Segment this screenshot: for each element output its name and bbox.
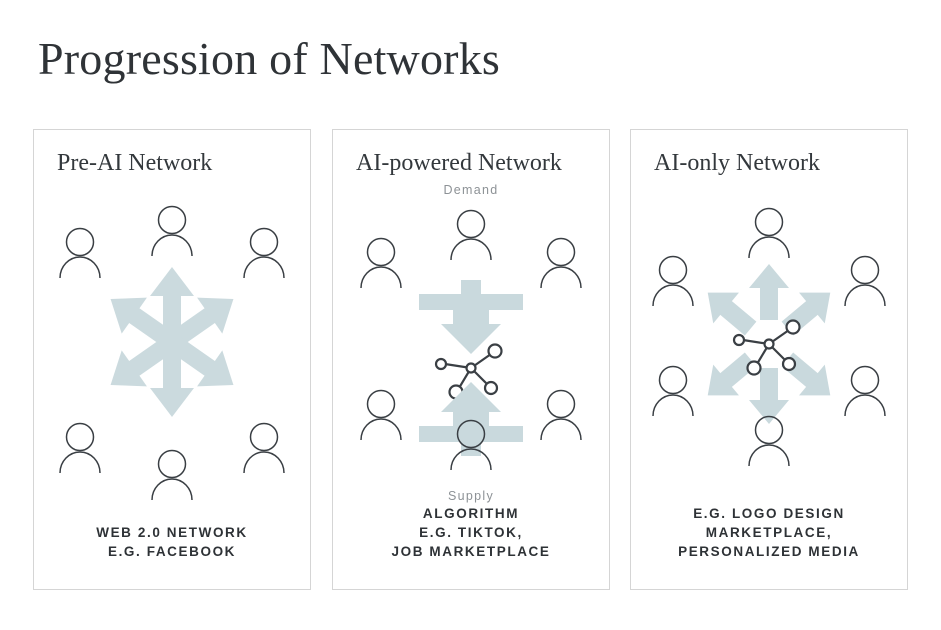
flow-label-supply: Supply — [448, 489, 494, 503]
person-demand-top — [451, 211, 491, 261]
person-bottom-right — [845, 367, 885, 417]
arrow-down — [749, 368, 789, 424]
arrow-up — [749, 264, 789, 320]
caption-ai-powered: ALGORITHM E.G. TIKTOK, JOB MARKETPLACE — [341, 504, 601, 561]
panel-pre-ai-network: Pre-AI Network — [33, 129, 311, 590]
person-bottom-right — [244, 424, 284, 474]
arrow-burst — [98, 267, 246, 417]
caption-line: WEB 2.0 NETWORK — [42, 523, 302, 542]
person-top-right — [244, 229, 284, 279]
caption-pre-ai: WEB 2.0 NETWORK E.G. FACEBOOK — [42, 523, 302, 561]
caption-line: E.G. LOGO DESIGN — [639, 504, 899, 523]
person-top-left — [60, 229, 100, 279]
person-group — [653, 209, 885, 467]
person-supply-right — [541, 391, 581, 441]
diagram-six-way-radiating-arrows — [631, 182, 907, 507]
panel-title-ai-only: AI-only Network — [654, 148, 820, 178]
person-top-left — [653, 257, 693, 307]
panel-title-ai-powered: AI-powered Network — [356, 148, 562, 178]
flow-label-demand: Demand — [443, 183, 498, 197]
person-top-right — [845, 257, 885, 307]
caption-line: JOB MARKETPLACE — [341, 542, 601, 561]
caption-line: ALGORITHM — [341, 504, 601, 523]
caption-ai-only: E.G. LOGO DESIGN MARKETPLACE, PERSONALIZ… — [639, 504, 899, 561]
arrow-funnel-up — [419, 382, 523, 456]
caption-line: MARKETPLACE, — [639, 523, 899, 542]
panel-ai-powered-network: AI-powered Network — [332, 129, 610, 590]
caption-line: E.G. FACEBOOK — [42, 542, 302, 561]
caption-line: PERSONALIZED MEDIA — [639, 542, 899, 561]
person-bottom-left — [60, 424, 100, 474]
person-bottom-left — [653, 367, 693, 417]
caption-line: E.G. TIKTOK, — [341, 523, 601, 542]
person-bottom — [152, 451, 192, 501]
person-top — [749, 209, 789, 259]
panel-ai-only-network: AI-only Network — [630, 129, 908, 590]
diagram-six-way-arrow-burst — [34, 182, 310, 507]
arrow-funnel-down — [419, 280, 523, 354]
person-group-demand — [361, 211, 581, 289]
panel-title-pre-ai: Pre-AI Network — [57, 148, 212, 178]
person-demand-left — [361, 239, 401, 289]
panel-group: Pre-AI Network — [0, 129, 941, 591]
person-supply-left — [361, 391, 401, 441]
person-top — [152, 207, 192, 257]
person-demand-right — [541, 239, 581, 289]
diagram-demand-supply-funnel: Demand Suppl — [333, 182, 609, 507]
page-title: Progression of Networks — [38, 32, 500, 86]
